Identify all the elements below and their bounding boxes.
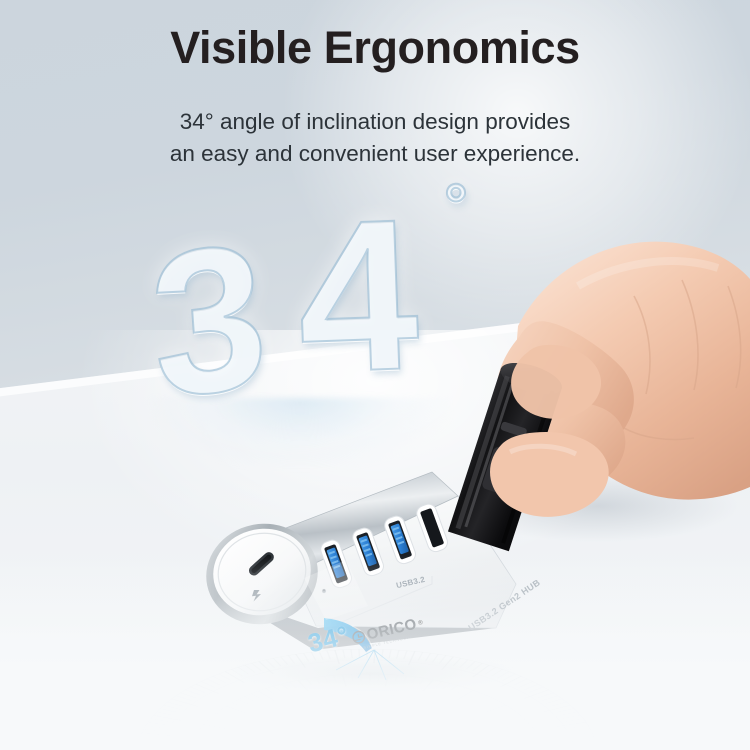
page-title: Visible Ergonomics — [0, 22, 750, 74]
subtitle-line-1: 34° angle of inclination design provides — [180, 109, 571, 134]
page-subtitle: 34° angle of inclination design provides… — [0, 106, 750, 170]
usb-hub-device — [196, 478, 536, 693]
product-marketing-banner: 3 4 ° Visible Ergonomics 34° angle of in… — [0, 0, 750, 750]
subtitle-line-2: an easy and convenient user experience. — [0, 138, 750, 170]
orico-mark-icon — [351, 629, 367, 645]
